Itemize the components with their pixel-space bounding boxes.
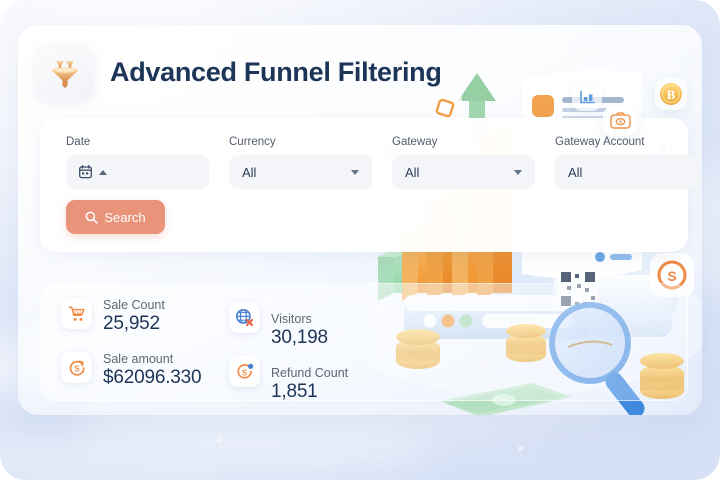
- field-label-gateway-account: Gateway Account: [555, 136, 702, 148]
- app-stage: S: [0, 0, 720, 480]
- page-title: Advanced Funnel Filtering: [110, 57, 442, 88]
- stat-value: 25,952: [103, 313, 165, 335]
- shopping-cart-icon: [68, 305, 86, 323]
- bitcoin-coin-icon: B: [659, 82, 683, 106]
- gateway-account-select[interactable]: All: [555, 155, 702, 189]
- funnel-icon: [47, 54, 83, 90]
- search-button-label: Search: [104, 210, 145, 225]
- calendar-icon: [79, 165, 92, 179]
- gateway-account-value: All: [568, 165, 702, 180]
- stat-card-sale-count: Sale Count 25,952: [61, 298, 165, 335]
- svg-text:S: S: [667, 268, 676, 284]
- search-button[interactable]: Search: [66, 200, 165, 234]
- filter-field-row: Date: [66, 136, 702, 189]
- stat-card-visitors: Visitors 30,198: [229, 306, 328, 349]
- page-header: Advanced Funnel Filtering: [36, 43, 442, 101]
- filter-field-currency: Currency All: [229, 136, 372, 189]
- stat-text: Refund Count 1,851: [271, 360, 348, 403]
- stat-value: $62096.330: [103, 367, 201, 389]
- caret-up-icon: [99, 170, 107, 175]
- bar-chart-icon: [579, 90, 596, 105]
- stat-card-sale-amount: S Sale amount $62096.330: [61, 352, 201, 389]
- bg-bokeh: [216, 437, 222, 443]
- field-label-currency: Currency: [229, 136, 372, 148]
- stat-label: Refund Count: [271, 366, 348, 380]
- funnel-logo-tile: [36, 43, 94, 101]
- svg-text:S: S: [74, 364, 80, 373]
- filter-field-gateway-account: Gateway Account All: [555, 136, 702, 189]
- bar-chart-icon-tile: [572, 84, 602, 111]
- date-input[interactable]: [66, 155, 209, 189]
- bitcoin-coin-tile: B: [655, 78, 687, 110]
- stat-card-refund-count: S Refund Count 1,851: [229, 360, 348, 403]
- svg-text:B: B: [667, 87, 676, 102]
- svg-text:S: S: [241, 368, 247, 377]
- globe-error-icon-tile: [229, 302, 260, 333]
- shopping-cart-icon-tile: [61, 298, 92, 329]
- stat-value: 30,198: [271, 327, 328, 349]
- refund-icon-tile: S: [229, 356, 260, 387]
- currency-select[interactable]: All: [229, 155, 372, 189]
- image-icon-tile: [603, 106, 637, 136]
- stat-text: Sale amount $62096.330: [103, 352, 201, 389]
- filter-field-gateway: Gateway All: [392, 136, 535, 189]
- stat-value: 1,851: [271, 381, 348, 403]
- stat-label: Sale Count: [103, 298, 165, 312]
- filter-panel: Date: [40, 118, 688, 252]
- image-icon: [610, 112, 631, 130]
- field-label-gateway: Gateway: [392, 136, 535, 148]
- refund-icon: S: [236, 363, 254, 381]
- chevron-down-icon: [351, 170, 359, 175]
- main-card: S: [18, 25, 702, 415]
- gateway-select[interactable]: All: [392, 155, 535, 189]
- stat-text: Visitors 30,198: [271, 306, 328, 349]
- stats-panel: Sale Count 25,952: [40, 283, 688, 401]
- stat-text: Sale Count 25,952: [103, 298, 165, 335]
- sale-amount-icon-tile: S: [61, 352, 92, 383]
- bg-bokeh: [518, 446, 523, 451]
- chevron-down-icon: [514, 170, 522, 175]
- search-icon: [85, 211, 98, 224]
- field-label-date: Date: [66, 136, 209, 148]
- globe-error-icon: [235, 308, 254, 327]
- currency-value: All: [242, 165, 351, 180]
- bg-streak: [0, 414, 433, 480]
- sale-amount-icon: S: [68, 359, 86, 377]
- stat-label: Sale amount: [103, 352, 201, 366]
- stat-label: Visitors: [271, 312, 328, 326]
- filter-field-date: Date: [66, 136, 209, 189]
- gateway-value: All: [405, 165, 514, 180]
